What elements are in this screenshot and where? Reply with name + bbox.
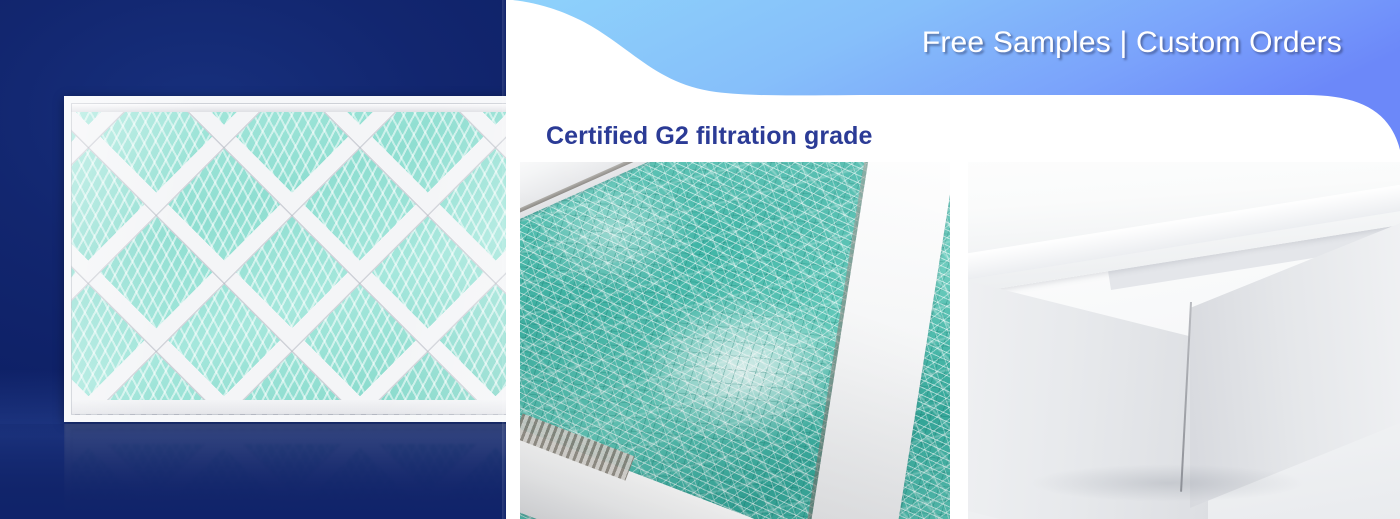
- photo-white-filter-frame-corner: [968, 162, 1400, 519]
- photo-vignette: [520, 162, 950, 519]
- panel-air-filter-product-image: [64, 96, 506, 422]
- reflection-tint: [0, 424, 506, 519]
- filter-face: [64, 96, 506, 422]
- page-headline: Certified G2 filtration grade: [546, 122, 873, 151]
- frame-contact-shadow: [978, 455, 1358, 511]
- filter-frame-border: [64, 96, 506, 422]
- photo-macro-teal-filter-fibre: [520, 162, 950, 519]
- promo-banner-stage: Free Samples | Custom Orders Certified G…: [0, 0, 1400, 519]
- promo-text: Free Samples | Custom Orders: [922, 26, 1342, 60]
- left-hero-panel: [0, 0, 506, 519]
